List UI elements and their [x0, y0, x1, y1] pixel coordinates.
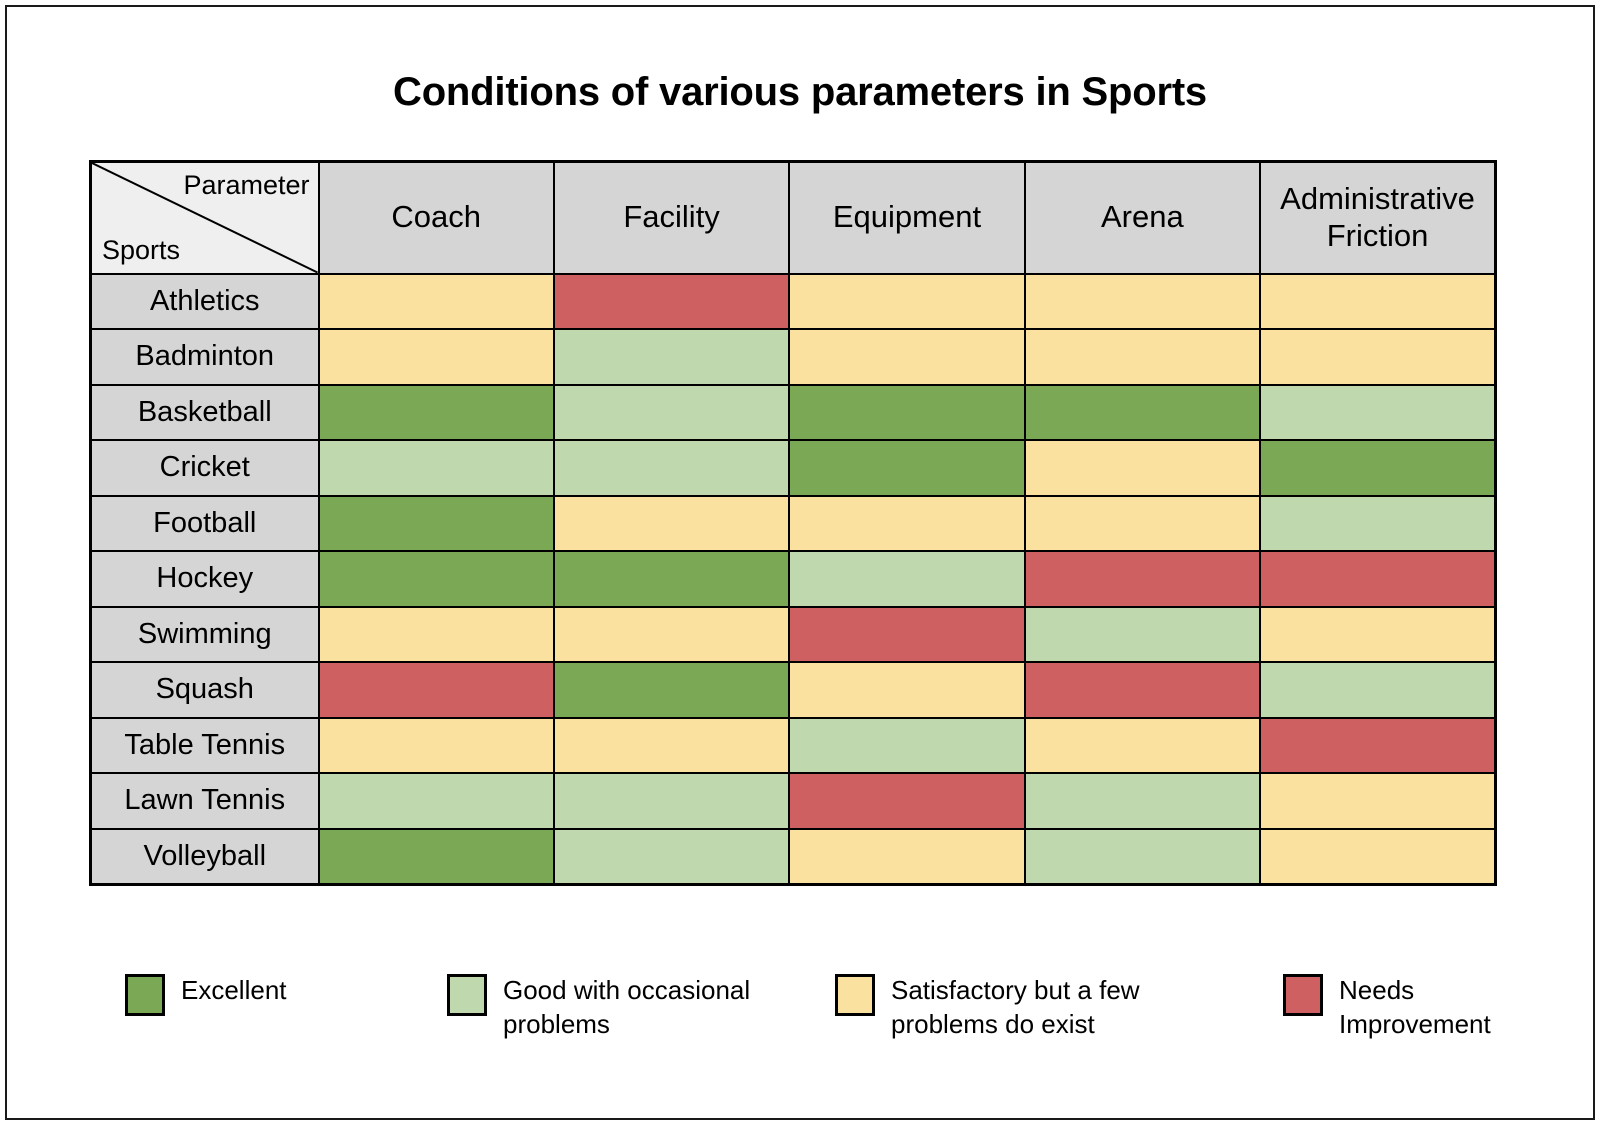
cell-table-tennis-arena	[1025, 718, 1260, 774]
cell-hockey-coach	[319, 551, 554, 607]
cell-athletics-coach	[319, 274, 554, 330]
header-row: Parameter Sports Coach Facility Equipmen…	[91, 162, 1496, 274]
column-header-arena: Arena	[1025, 162, 1260, 274]
table-row: Table Tennis	[91, 718, 1496, 774]
cell-lawn-tennis-equipment	[789, 773, 1024, 829]
cell-swimming-equipment	[789, 607, 1024, 663]
cell-squash-coach	[319, 662, 554, 718]
table-row: Cricket	[91, 440, 1496, 496]
legend-item-good: Good with occasional problems	[447, 962, 793, 1042]
row-header-basketball: Basketball	[91, 385, 319, 441]
page-title: Conditions of various parameters in Spor…	[7, 70, 1593, 115]
cell-squash-equipment	[789, 662, 1024, 718]
column-header-administrative-friction: Administrative Friction	[1260, 162, 1495, 274]
cell-volleyball-equipment	[789, 829, 1024, 885]
table-row: Volleyball	[91, 829, 1496, 885]
matrix-container: Parameter Sports Coach Facility Equipmen…	[89, 160, 1494, 886]
matrix-body: AthleticsBadmintonBasketballCricketFootb…	[91, 274, 1496, 885]
table-row: Athletics	[91, 274, 1496, 330]
legend-item-excellent: Excellent	[125, 962, 287, 1016]
table-row: Swimming	[91, 607, 1496, 663]
cell-cricket-coach	[319, 440, 554, 496]
cell-basketball-coach	[319, 385, 554, 441]
page-frame: Conditions of various parameters in Spor…	[5, 5, 1595, 1120]
legend-label-satisfactory: Satisfactory but a few problems do exist	[891, 962, 1181, 1042]
cell-cricket-arena	[1025, 440, 1260, 496]
legend-label-needs-improvement: Needs Improvement	[1339, 962, 1505, 1042]
cell-badminton-facility	[554, 329, 789, 385]
row-header-table-tennis: Table Tennis	[91, 718, 319, 774]
cell-squash-administrative-friction	[1260, 662, 1495, 718]
cell-football-arena	[1025, 496, 1260, 552]
row-header-hockey: Hockey	[91, 551, 319, 607]
cell-volleyball-administrative-friction	[1260, 829, 1495, 885]
table-row: Hockey	[91, 551, 1496, 607]
row-header-cricket: Cricket	[91, 440, 319, 496]
corner-parameter-label: Parameter	[183, 171, 309, 199]
table-row: Squash	[91, 662, 1496, 718]
table-row: Badminton	[91, 329, 1496, 385]
cell-table-tennis-coach	[319, 718, 554, 774]
cell-hockey-administrative-friction	[1260, 551, 1495, 607]
cell-football-administrative-friction	[1260, 496, 1495, 552]
cell-swimming-coach	[319, 607, 554, 663]
cell-basketball-arena	[1025, 385, 1260, 441]
legend-label-good: Good with occasional problems	[503, 962, 793, 1042]
cell-squash-arena	[1025, 662, 1260, 718]
cell-lawn-tennis-administrative-friction	[1260, 773, 1495, 829]
cell-athletics-equipment	[789, 274, 1024, 330]
row-header-athletics: Athletics	[91, 274, 319, 330]
table-row: Lawn Tennis	[91, 773, 1496, 829]
row-header-football: Football	[91, 496, 319, 552]
corner-header-cell: Parameter Sports	[91, 162, 319, 274]
cell-basketball-equipment	[789, 385, 1024, 441]
cell-hockey-arena	[1025, 551, 1260, 607]
cell-badminton-arena	[1025, 329, 1260, 385]
cell-volleyball-arena	[1025, 829, 1260, 885]
cell-swimming-arena	[1025, 607, 1260, 663]
cell-table-tennis-facility	[554, 718, 789, 774]
cell-badminton-coach	[319, 329, 554, 385]
cell-football-equipment	[789, 496, 1024, 552]
cell-lawn-tennis-arena	[1025, 773, 1260, 829]
cell-lawn-tennis-facility	[554, 773, 789, 829]
row-header-swimming: Swimming	[91, 607, 319, 663]
column-header-coach: Coach	[319, 162, 554, 274]
cell-volleyball-coach	[319, 829, 554, 885]
cell-lawn-tennis-coach	[319, 773, 554, 829]
cell-athletics-arena	[1025, 274, 1260, 330]
legend-swatch-excellent	[125, 974, 165, 1016]
cell-basketball-administrative-friction	[1260, 385, 1495, 441]
column-header-equipment: Equipment	[789, 162, 1024, 274]
cell-hockey-facility	[554, 551, 789, 607]
cell-swimming-facility	[554, 607, 789, 663]
legend-item-needs-improvement: Needs Improvement	[1283, 962, 1505, 1042]
legend-item-satisfactory: Satisfactory but a few problems do exist	[835, 962, 1181, 1042]
legend-label-excellent: Excellent	[181, 962, 287, 1008]
table-row: Football	[91, 496, 1496, 552]
cell-cricket-facility	[554, 440, 789, 496]
row-header-badminton: Badminton	[91, 329, 319, 385]
cell-cricket-equipment	[789, 440, 1024, 496]
cell-basketball-facility	[554, 385, 789, 441]
column-header-facility: Facility	[554, 162, 789, 274]
matrix-header: Parameter Sports Coach Facility Equipmen…	[91, 162, 1496, 274]
cell-volleyball-facility	[554, 829, 789, 885]
legend-swatch-needs-improvement	[1283, 974, 1323, 1016]
cell-table-tennis-administrative-friction	[1260, 718, 1495, 774]
table-row: Basketball	[91, 385, 1496, 441]
cell-squash-facility	[554, 662, 789, 718]
cell-athletics-administrative-friction	[1260, 274, 1495, 330]
cell-hockey-equipment	[789, 551, 1024, 607]
row-header-squash: Squash	[91, 662, 319, 718]
cell-cricket-administrative-friction	[1260, 440, 1495, 496]
row-header-lawn-tennis: Lawn Tennis	[91, 773, 319, 829]
row-header-volleyball: Volleyball	[91, 829, 319, 885]
cell-athletics-facility	[554, 274, 789, 330]
legend-swatch-good	[447, 974, 487, 1016]
sports-parameter-matrix: Parameter Sports Coach Facility Equipmen…	[89, 160, 1497, 886]
cell-badminton-equipment	[789, 329, 1024, 385]
corner-sports-label: Sports	[102, 236, 180, 264]
cell-swimming-administrative-friction	[1260, 607, 1495, 663]
cell-badminton-administrative-friction	[1260, 329, 1495, 385]
cell-table-tennis-equipment	[789, 718, 1024, 774]
legend: ExcellentGood with occasional problemsSa…	[125, 962, 1505, 1072]
cell-football-facility	[554, 496, 789, 552]
cell-football-coach	[319, 496, 554, 552]
legend-swatch-satisfactory	[835, 974, 875, 1016]
